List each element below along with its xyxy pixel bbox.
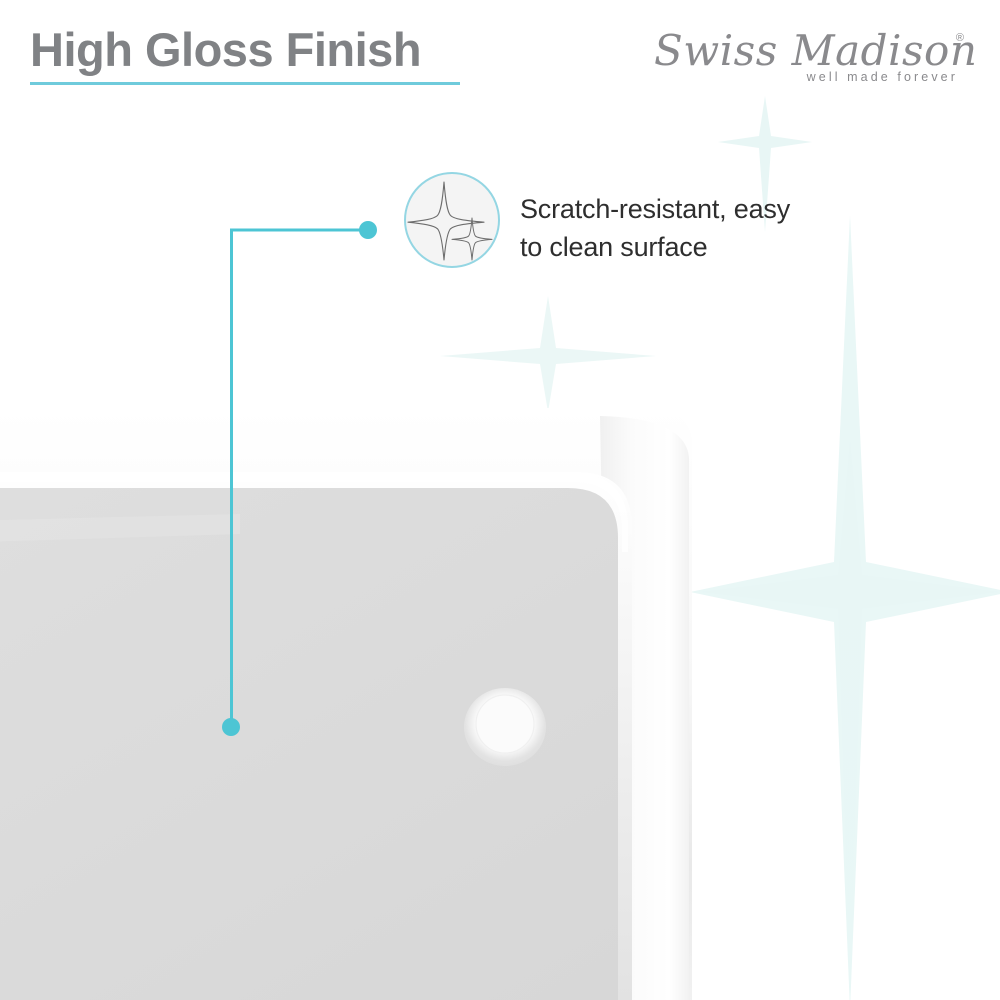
product-feature-graphic: High Gloss Finish Swiss Madison ® well m… <box>0 0 1000 1000</box>
brand-tagline: well made forever <box>807 70 958 84</box>
shower-base-product-image <box>0 402 692 1000</box>
brand-wordmark: Swiss Madison <box>654 26 949 75</box>
feature-description: Scratch-resistant, easy to clean surface <box>520 190 850 266</box>
feature-description-line-2: to clean surface <box>520 228 850 266</box>
decor-sparkle-large <box>690 215 1000 1000</box>
page-title: High Gloss Finish <box>30 22 421 77</box>
decor-sparkle-medium <box>440 296 656 412</box>
sparkle-shine-icon <box>404 172 500 268</box>
leader-dot-icon <box>359 221 377 239</box>
brand-logo: Swiss Madison ® well made forever <box>654 26 964 88</box>
title-underline <box>30 82 460 85</box>
feature-description-line-1: Scratch-resistant, easy <box>520 190 850 228</box>
drain-hole <box>464 688 546 766</box>
registered-mark-icon: ® <box>956 32 964 44</box>
